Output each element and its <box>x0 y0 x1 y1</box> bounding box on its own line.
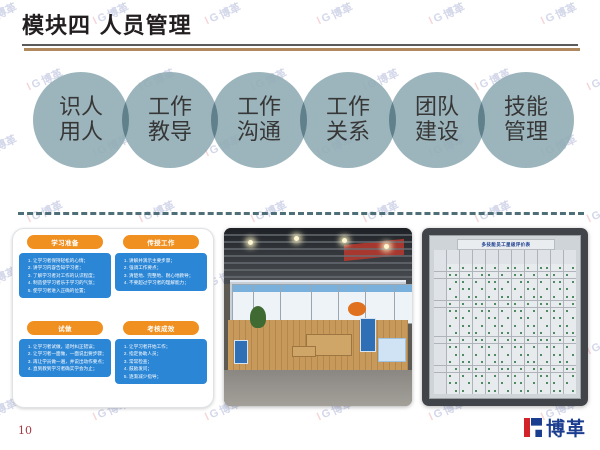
matrix-skill-dot <box>559 317 561 319</box>
matrix-cell <box>486 322 492 329</box>
matrix-header-cell <box>557 257 563 264</box>
matrix-skill-dot <box>533 382 535 384</box>
step-quadrant-1: 学习准备让学习者保持轻松的心情；讲学习内容告知学习者；了解学习者对工作的认识程度… <box>19 235 111 298</box>
matrix-cell <box>499 272 505 279</box>
matrix-cell <box>492 358 498 365</box>
matrix-cell <box>564 351 570 358</box>
matrix-cell <box>512 366 518 373</box>
matrix-cell <box>551 380 557 387</box>
matrix-header-cell <box>434 337 440 344</box>
matrix-cell <box>570 293 576 300</box>
matrix-cell <box>531 366 537 373</box>
photo-bench <box>292 346 316 357</box>
matrix-skill-dot <box>566 274 568 276</box>
step-item: 让学习者试做，适时纠正错误； <box>33 343 108 350</box>
matrix-cell <box>505 329 511 336</box>
matrix-cell <box>525 272 531 279</box>
circle-item-6[interactable]: 技能管理 <box>478 72 574 168</box>
matrix-skill-dot <box>553 390 555 392</box>
brand-logo: 博革 <box>524 414 586 441</box>
matrix-cell <box>466 264 472 271</box>
step-item-list: 让学习者保持轻松的心情；讲学习内容告知学习者；了解学习者对工作的认识程度；制造使… <box>23 257 108 294</box>
matrix-skill-dot <box>566 368 568 370</box>
circle-label-line1: 工作 <box>326 95 370 120</box>
title-rule-bottom <box>24 48 580 51</box>
circle-label-line2: 沟通 <box>237 120 281 145</box>
matrix-cell <box>505 373 511 380</box>
step-item: 讲解并演示主要步骤； <box>129 257 204 264</box>
matrix-cell <box>551 293 557 300</box>
logo-wordmark: 博革 <box>546 414 586 441</box>
matrix-skill-dot <box>540 339 542 341</box>
matrix-header-cell <box>440 279 446 286</box>
matrix-cell <box>564 264 570 271</box>
matrix-cell <box>570 279 576 286</box>
matrix-skill-dot <box>520 310 522 312</box>
matrix-cell <box>531 387 537 394</box>
matrix-cell <box>570 366 576 373</box>
step-body-1: 让学习者保持轻松的心情；讲学习内容告知学习者；了解学习者对工作的认识程度；制造使… <box>19 253 111 298</box>
matrix-header-cell <box>479 257 485 264</box>
matrix-skill-dot <box>507 296 509 298</box>
matrix-cell <box>538 373 544 380</box>
matrix-cell <box>447 322 453 329</box>
matrix-cell <box>525 322 531 329</box>
matrix-skill-dot <box>520 368 522 370</box>
matrix-cell <box>551 322 557 329</box>
photo-board-header <box>339 285 365 292</box>
matrix-skill-dot <box>514 339 516 341</box>
matrix-skill-dot <box>468 361 470 363</box>
matrix-cell <box>557 315 563 322</box>
matrix-skill-dot <box>507 339 509 341</box>
matrix-header-cell <box>453 257 459 264</box>
matrix-cell <box>531 272 537 279</box>
photo-ceiling-light <box>294 236 299 241</box>
matrix-header-cell <box>486 250 492 257</box>
matrix-header-cell <box>434 315 440 322</box>
matrix-cell <box>466 322 472 329</box>
matrix-cell <box>473 337 479 344</box>
matrix-skill-dot <box>494 325 496 327</box>
matrix-cell <box>479 344 485 351</box>
matrix-skill-dot <box>553 346 555 348</box>
photo-ceiling-beam <box>224 234 412 236</box>
matrix-skill-dot <box>520 382 522 384</box>
matrix-cell <box>551 315 557 322</box>
photo-board-header <box>395 285 412 292</box>
matrix-cell <box>505 387 511 394</box>
matrix-skill-dot <box>475 368 477 370</box>
matrix-cell <box>525 366 531 373</box>
matrix-header-cell <box>434 293 440 300</box>
circle-label-line2: 教导 <box>148 120 192 145</box>
matrix-cell <box>473 272 479 279</box>
matrix-cell <box>447 329 453 336</box>
matrix-cell <box>473 380 479 387</box>
dashed-divider <box>18 212 584 215</box>
matrix-cell <box>453 322 459 329</box>
matrix-header-cell <box>440 380 446 387</box>
matrix-cell <box>447 380 453 387</box>
matrix-cell <box>486 315 492 322</box>
circle-label-line1: 工作 <box>237 95 281 120</box>
matrix-cell <box>499 358 505 365</box>
matrix-skill-dot <box>468 325 470 327</box>
matrix-cell <box>492 308 498 315</box>
matrix-cell <box>505 344 511 351</box>
photo-info-kiosk <box>360 318 376 352</box>
matrix-cell <box>518 264 524 271</box>
circle-item-4[interactable]: 工作关系 <box>300 72 396 168</box>
matrix-skill-dot <box>455 274 457 276</box>
matrix-cell <box>531 322 537 329</box>
matrix-cell <box>492 301 498 308</box>
matrix-cell <box>551 308 557 315</box>
matrix-cell <box>492 337 498 344</box>
matrix-skill-dot <box>449 288 451 290</box>
matrix-cell <box>447 308 453 315</box>
watermark-logo: lG博革 <box>584 197 600 227</box>
matrix-skill-dot <box>494 281 496 283</box>
matrix-skill-dot <box>475 303 477 305</box>
matrix-header-cell <box>538 257 544 264</box>
matrix-skill-dot <box>507 354 509 356</box>
matrix-header-cell <box>434 264 440 271</box>
matrix-cell <box>486 387 492 394</box>
matrix-header-cell <box>440 387 446 394</box>
matrix-cell <box>460 358 466 365</box>
matrix-cell <box>531 337 537 344</box>
training-area-photo <box>224 228 412 406</box>
matrix-skill-dot <box>475 354 477 356</box>
matrix-cell <box>505 264 511 271</box>
matrix-skill-dot <box>553 382 555 384</box>
matrix-cell <box>518 293 524 300</box>
matrix-cell <box>486 264 492 271</box>
matrix-cell <box>512 373 518 380</box>
matrix-cell <box>518 279 524 286</box>
matrix-skill-dot <box>546 375 548 377</box>
circle-item-1[interactable]: 识人用人 <box>33 72 129 168</box>
matrix-header-cell <box>538 250 544 257</box>
photo-display-board <box>311 284 339 324</box>
matrix-header-cell <box>440 373 446 380</box>
matrix-skill-dot <box>527 325 529 327</box>
matrix-header-cell <box>434 250 440 257</box>
matrix-cell <box>473 329 479 336</box>
matrix-cell <box>486 279 492 286</box>
matrix-skill-dot <box>559 303 561 305</box>
matrix-cell <box>466 279 472 286</box>
matrix-header-cell <box>525 257 531 264</box>
matrix-cell <box>551 329 557 336</box>
matrix-header-cell <box>499 250 505 257</box>
photo-plant-left <box>250 306 266 328</box>
matrix-cell <box>538 293 544 300</box>
matrix-skill-dot <box>527 303 529 305</box>
matrix-header-cell <box>473 250 479 257</box>
matrix-cell <box>479 387 485 394</box>
title-rule-top <box>22 44 578 46</box>
matrix-cell <box>544 351 550 358</box>
matrix-skill-dot <box>462 325 464 327</box>
matrix-skill-dot <box>559 361 561 363</box>
matrix-cell <box>544 366 550 373</box>
matrix-cell <box>570 315 576 322</box>
matrix-skill-dot <box>488 317 490 319</box>
circle-item-5[interactable]: 团队建设 <box>389 72 485 168</box>
matrix-skill-dot <box>572 317 574 319</box>
matrix-cell <box>551 337 557 344</box>
logo-bar-icon <box>524 418 530 437</box>
matrix-cell <box>518 351 524 358</box>
matrix-cell <box>564 337 570 344</box>
matrix-cell <box>492 329 498 336</box>
matrix-skill-dot <box>520 346 522 348</box>
matrix-skill-dot <box>527 339 529 341</box>
matrix-skill-dot <box>520 354 522 356</box>
matrix-cell <box>518 308 524 315</box>
matrix-skill-dot <box>481 325 483 327</box>
matrix-cell <box>466 366 472 373</box>
matrix-cell <box>557 308 563 315</box>
matrix-cell <box>544 337 550 344</box>
matrix-header-cell <box>525 250 531 257</box>
matrix-header-cell <box>447 257 453 264</box>
photo-board-header <box>312 285 338 292</box>
matrix-skill-dot <box>449 346 451 348</box>
matrix-cell <box>512 329 518 336</box>
matrix-cell <box>525 293 531 300</box>
matrix-cell <box>544 373 550 380</box>
matrix-skill-dot <box>540 281 542 283</box>
matrix-skill-dot <box>572 303 574 305</box>
matrix-skill-dot <box>488 296 490 298</box>
matrix-cell <box>460 387 466 394</box>
matrix-cell <box>466 344 472 351</box>
matrix-cell <box>544 264 550 271</box>
matrix-cell <box>479 366 485 373</box>
matrix-skill-dot <box>449 339 451 341</box>
matrix-header-cell <box>460 257 466 264</box>
matrix-cell <box>525 337 531 344</box>
matrix-cell <box>479 264 485 271</box>
matrix-skill-dot <box>462 317 464 319</box>
matrix-cell <box>538 308 544 315</box>
matrix-cell <box>544 293 550 300</box>
matrix-skill-dot <box>449 310 451 312</box>
matrix-header-cell <box>570 257 576 264</box>
matrix-skill-dot <box>566 382 568 384</box>
circle-label-line1: 识人 <box>59 95 103 120</box>
matrix-cell <box>486 366 492 373</box>
matrix-skill-dot <box>488 281 490 283</box>
matrix-skill-dot <box>566 288 568 290</box>
matrix-skill-dot <box>475 317 477 319</box>
matrix-cell <box>557 344 563 351</box>
matrix-skill-dot <box>507 281 509 283</box>
matrix-skill-dot <box>520 296 522 298</box>
matrix-skill-dot <box>520 281 522 283</box>
matrix-header-cell <box>518 250 524 257</box>
photo-board-header <box>366 285 394 292</box>
matrix-cell <box>492 315 498 322</box>
circle-label-line2: 用人 <box>59 120 103 145</box>
matrix-cell <box>492 322 498 329</box>
matrix-header-cell <box>466 250 472 257</box>
matrix-cell <box>486 293 492 300</box>
matrix-cell <box>486 329 492 336</box>
matrix-skill-dot <box>533 325 535 327</box>
matrix-cell <box>518 337 524 344</box>
matrix-cell <box>570 380 576 387</box>
matrix-cell <box>460 373 466 380</box>
matrix-skill-dot <box>533 310 535 312</box>
matrix-cell <box>453 329 459 336</box>
matrix-skill-dot <box>533 274 535 276</box>
step-header-1: 学习准备 <box>27 235 103 249</box>
matrix-cell <box>460 301 466 308</box>
matrix-header-cell <box>434 351 440 358</box>
matrix-cell <box>499 264 505 271</box>
matrix-skill-dot <box>566 361 568 363</box>
matrix-cell <box>512 279 518 286</box>
step-quadrant-3: 试做让学习者试做，适时纠正错误；让学习者一面做，一面说出要步骤；再让学员做一遍，… <box>19 321 111 377</box>
matrix-cell <box>447 315 453 322</box>
matrix-cell <box>525 358 531 365</box>
matrix-cell <box>473 315 479 322</box>
matrix-skill-dot <box>449 325 451 327</box>
matrix-cell <box>473 279 479 286</box>
step-item: 清楚地、完整地、耐心地教导； <box>129 272 204 279</box>
matrix-skill-dot <box>540 332 542 334</box>
matrix-skill-dot <box>507 267 509 269</box>
matrix-header-cell <box>499 257 505 264</box>
matrix-header-cell <box>434 380 440 387</box>
matrix-header-cell <box>434 387 440 394</box>
matrix-cell <box>505 286 511 293</box>
matrix-skill-dot <box>540 368 542 370</box>
matrix-header-cell <box>440 301 446 308</box>
matrix-cell <box>479 293 485 300</box>
matrix-cell <box>557 279 563 286</box>
circle-row: 识人用人工作教导工作沟通工作关系团队建设技能管理 <box>0 62 600 194</box>
matrix-cell <box>447 301 453 308</box>
matrix-cell <box>499 293 505 300</box>
matrix-cell <box>564 301 570 308</box>
matrix-cell <box>505 322 511 329</box>
matrix-cell <box>466 293 472 300</box>
matrix-skill-dot <box>572 281 574 283</box>
matrix-cell <box>538 337 544 344</box>
matrix-skill-dot <box>546 267 548 269</box>
matrix-cell <box>518 315 524 322</box>
matrix-skill-dot <box>481 375 483 377</box>
matrix-cell <box>531 358 537 365</box>
circle-item-3[interactable]: 工作沟通 <box>211 72 307 168</box>
matrix-cell <box>551 351 557 358</box>
matrix-cell <box>531 279 537 286</box>
matrix-cell <box>538 329 544 336</box>
matrix-header-cell <box>440 322 446 329</box>
matrix-skill-dot <box>514 274 516 276</box>
matrix-cell <box>544 315 550 322</box>
matrix-skill-dot <box>533 332 535 334</box>
matrix-skill-dot <box>572 332 574 334</box>
photo-ceiling-light <box>248 240 253 245</box>
matrix-cell <box>447 337 453 344</box>
matrix-cell <box>512 344 518 351</box>
matrix-cell <box>557 301 563 308</box>
matrix-cell <box>570 387 576 394</box>
matrix-cell <box>492 272 498 279</box>
matrix-cell <box>512 351 518 358</box>
matrix-skill-dot <box>514 325 516 327</box>
matrix-cell <box>479 286 485 293</box>
matrix-skill-dot <box>455 317 457 319</box>
step-item: 使学习者进入正确的位置； <box>33 287 108 294</box>
matrix-cell <box>447 344 453 351</box>
matrix-cell <box>453 308 459 315</box>
matrix-header-cell <box>434 308 440 315</box>
matrix-cell <box>512 315 518 322</box>
matrix-skill-dot <box>572 339 574 341</box>
matrix-cell <box>564 373 570 380</box>
circle-item-2[interactable]: 工作教导 <box>122 72 218 168</box>
matrix-cell <box>570 322 576 329</box>
matrix-header-cell <box>505 257 511 264</box>
matrix-skill-dot <box>533 288 535 290</box>
matrix-skill-dot <box>546 303 548 305</box>
matrix-cell <box>551 279 557 286</box>
matrix-cell <box>538 380 544 387</box>
matrix-cell <box>460 293 466 300</box>
matrix-grid <box>434 250 576 394</box>
matrix-cell <box>557 380 563 387</box>
matrix-skill-dot <box>475 390 477 392</box>
matrix-cell <box>499 308 505 315</box>
matrix-cell <box>447 272 453 279</box>
matrix-skill-dot <box>540 354 542 356</box>
matrix-skill-dot <box>455 346 457 348</box>
matrix-cell <box>551 358 557 365</box>
matrix-skill-dot <box>449 382 451 384</box>
matrix-cell <box>525 308 531 315</box>
matrix-cell <box>570 329 576 336</box>
matrix-header-cell <box>447 250 453 257</box>
matrix-cell <box>557 272 563 279</box>
matrix-cell <box>492 286 498 293</box>
matrix-cell <box>551 366 557 373</box>
matrix-cell <box>570 351 576 358</box>
step-item: 强调工作要点； <box>129 264 204 271</box>
matrix-cell <box>512 380 518 387</box>
matrix-skill-dot <box>488 274 490 276</box>
matrix-cell <box>453 366 459 373</box>
matrix-cell <box>447 351 453 358</box>
matrix-cell <box>518 387 524 394</box>
matrix-skill-dot <box>514 382 516 384</box>
matrix-cell <box>564 286 570 293</box>
matrix-cell <box>544 279 550 286</box>
matrix-cell <box>557 329 563 336</box>
matrix-skill-dot <box>507 375 509 377</box>
matrix-cell <box>486 373 492 380</box>
matrix-cell <box>460 337 466 344</box>
step-item: 让学习者保持轻松的心情； <box>33 257 108 264</box>
matrix-cell <box>473 286 479 293</box>
